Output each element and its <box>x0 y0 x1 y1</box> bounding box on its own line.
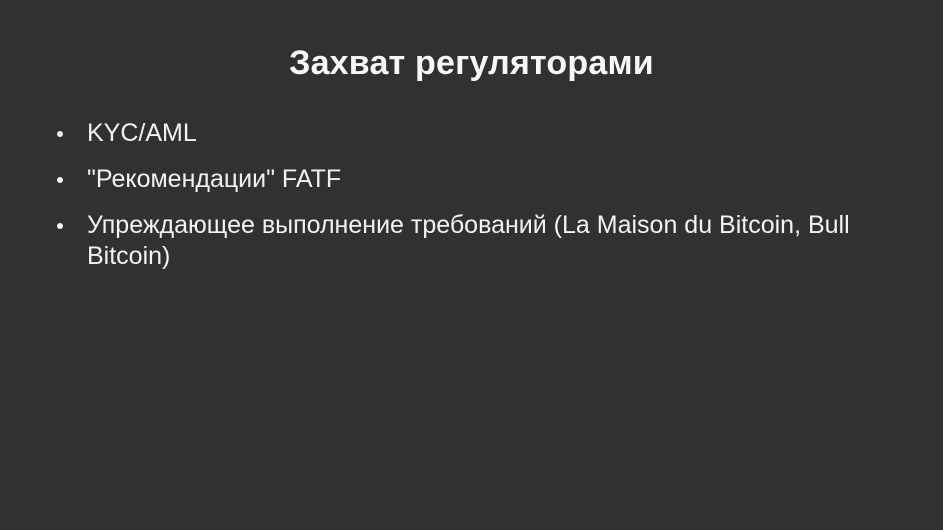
bullet-dot-icon <box>57 223 63 229</box>
list-item-label: KYC/AML <box>87 118 912 149</box>
bullet-list: KYC/AML "Рекомендации" FATF Упреждающее … <box>50 118 912 272</box>
bullet-dot-icon <box>57 131 63 137</box>
list-item: KYC/AML <box>50 118 912 149</box>
list-item-label: "Рекомендации" FATF <box>87 164 912 195</box>
page-title: Захват регуляторами <box>0 42 943 84</box>
list-item: Упреждающее выполнение требований (La Ma… <box>50 210 912 272</box>
presentation-slide: Захват регуляторами KYC/AML "Рекомендаци… <box>0 0 943 530</box>
list-item: "Рекомендации" FATF <box>50 164 912 195</box>
bullet-dot-icon <box>57 177 63 183</box>
list-item-label: Упреждающее выполнение требований (La Ma… <box>87 210 912 272</box>
